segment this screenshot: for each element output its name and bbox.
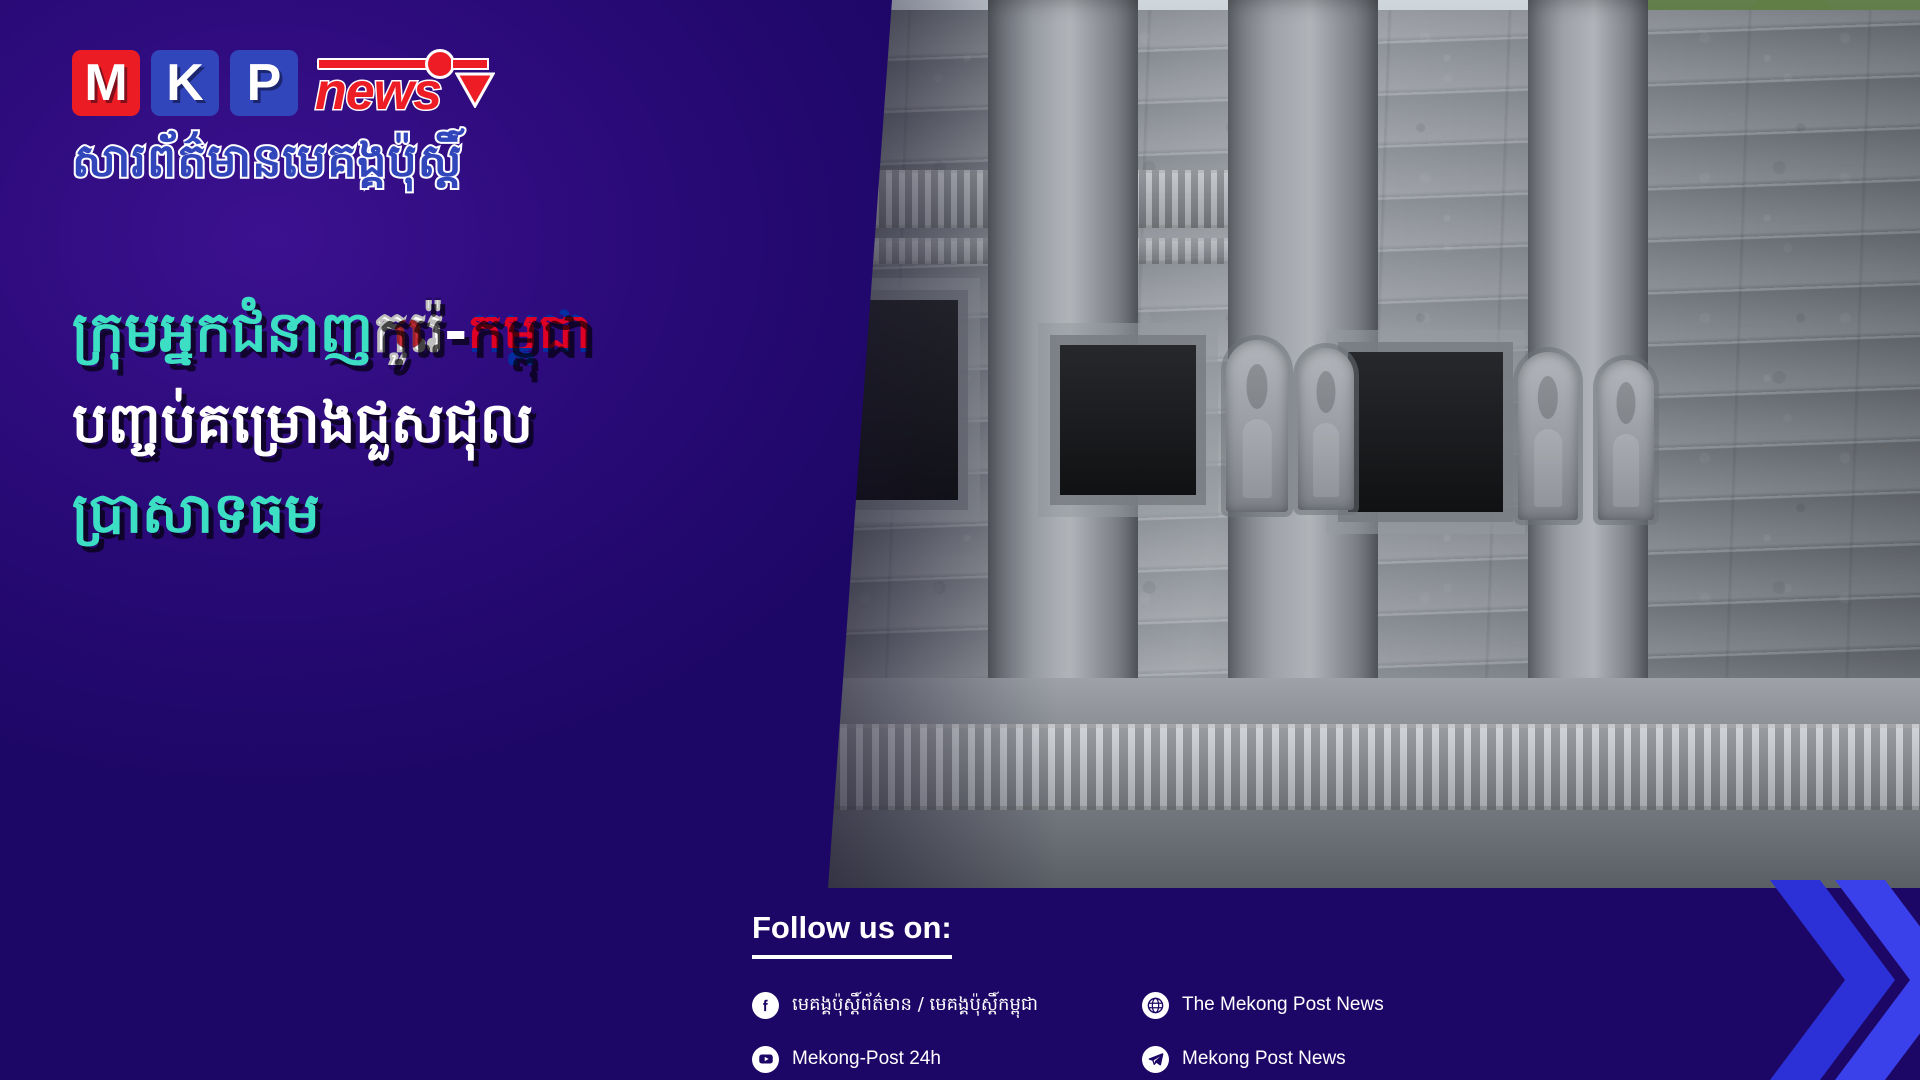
social-label-website: The Mekong Post News [1182, 994, 1384, 1016]
headline-line1-text: ក្រុមអ្នកជំនាញ [72, 300, 373, 365]
youtube-icon [752, 1046, 779, 1073]
logo-letter-p: P [230, 50, 298, 116]
headline-korea-flag-text: កូរ៉េ [373, 300, 444, 365]
devata-figure-4 [1598, 360, 1654, 520]
social-link-website[interactable]: The Mekong Post News [1142, 992, 1512, 1019]
chevron-accent [1660, 880, 1920, 1080]
headline-line-2: បញ្ចប់គម្រោងជួសជុល [72, 379, 772, 470]
logo-news-text: news [315, 62, 441, 122]
social-link-youtube[interactable]: Mekong-Post 24h [752, 1046, 1142, 1073]
facebook-icon [752, 992, 779, 1019]
headline-line-3: ប្រាសាទធម [72, 469, 772, 560]
temple-window-left [1060, 345, 1196, 495]
social-link-facebook[interactable]: មេគង្គប៉ុស្តិ៍ព័ត៌មាន / មេគង្គប៉ុស្តិ៍កម… [752, 992, 1142, 1019]
social-links-grid: មេគង្គប៉ុស្តិ៍ព័ត៌មាន / មេគង្គប៉ុស្តិ៍កម… [752, 978, 1512, 1080]
social-label-telegram: Mekong Post News [1182, 1048, 1346, 1070]
temple-window-right [1348, 352, 1503, 512]
headline-cambodia-flag-text: កម្ពុជា [467, 300, 591, 365]
social-label-youtube: Mekong-Post 24h [792, 1048, 941, 1070]
pilaster-right [1528, 0, 1648, 700]
devata-figure-2 [1298, 348, 1354, 510]
headline-block: ក្រុមអ្នកជំនាញកូរ៉េ-កម្ពុជា បញ្ចប់គម្រោង… [72, 288, 772, 560]
logo-lettermarks: M K P news [72, 48, 487, 118]
devata-figure-3 [1518, 352, 1578, 520]
news-graphic-canvas: M K P news សារព័ត៌មានមេគង្គប៉ុស្តិ៍ ក្រុ… [0, 0, 1920, 1080]
logo-arrow-icon [455, 60, 495, 108]
social-link-telegram[interactable]: Mekong Post News [1142, 1046, 1512, 1073]
footer-bar: Follow us on: មេគង្គប៉ុស្តិ៍ព័ត៌មាន / មេ… [828, 888, 1920, 1080]
headline-line-1: ក្រុមអ្នកជំនាញកូរ៉េ-កម្ពុជា [72, 288, 772, 379]
headline-dash: - [444, 300, 467, 365]
photo-left-shadow [828, 0, 1058, 888]
mkp-news-logo[interactable]: M K P news សារព័ត៌មានមេគង្គប៉ុស្តិ៍ [72, 48, 487, 199]
follow-us-label: Follow us on: [752, 910, 952, 959]
devata-figure-1 [1226, 340, 1288, 512]
logo-news-wordmark: news [315, 48, 487, 118]
temple-image [828, 0, 1920, 888]
social-label-facebook: មេគង្គប៉ុស្តិ៍ព័ត៌មាន / មេគង្គប៉ុស្តិ៍កម… [792, 992, 1038, 1019]
logo-letter-m: M [72, 50, 140, 116]
logo-letter-k: K [151, 50, 219, 116]
logo-khmer-subtitle: សារព័ត៌មានមេគង្គប៉ុស្តិ៍ [72, 132, 487, 199]
telegram-icon [1142, 1046, 1169, 1073]
globe-icon [1142, 992, 1169, 1019]
temple-photo [828, 0, 1920, 888]
